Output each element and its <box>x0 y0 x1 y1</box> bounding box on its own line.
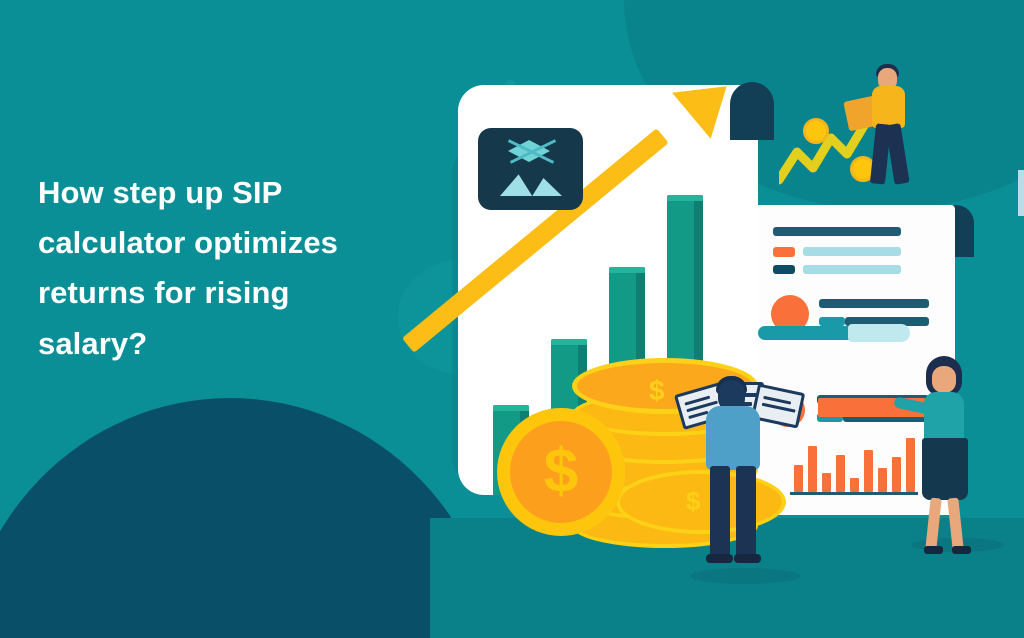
headline-line-1: How step up SIP <box>38 168 418 218</box>
man-carrying-box <box>862 64 932 189</box>
mini-chart-bar <box>794 465 803 492</box>
mini-chart-bar <box>822 473 831 492</box>
document-line <box>773 227 901 236</box>
big-dollar-coin: $ <box>497 408 625 536</box>
document-line <box>819 317 845 326</box>
mini-chart-bar <box>878 468 887 492</box>
page-title: How step up SIP calculator optimizes ret… <box>38 168 418 369</box>
mini-chart-bar <box>836 455 845 492</box>
mini-chart-bar <box>850 478 859 492</box>
document-bullet-navy <box>773 265 795 274</box>
figure-shadow <box>690 568 800 584</box>
man-torso <box>872 86 905 128</box>
chart-bar-top <box>609 267 645 273</box>
man-shoe <box>734 554 761 563</box>
background-circle-bottom-left <box>0 398 500 638</box>
highlighter-pen-tip-icon <box>848 324 910 342</box>
document-line <box>803 247 901 256</box>
document-line <box>819 299 929 308</box>
chart-bar-top <box>551 339 587 345</box>
woman-leg <box>947 498 963 551</box>
badge-mountain-shape <box>500 166 562 196</box>
document-bullet-orange <box>773 247 795 257</box>
man-leg <box>710 466 730 558</box>
coin-dollar-symbol: $ <box>649 375 665 407</box>
woman-leg <box>925 498 941 551</box>
banner-canvas: How step up SIP calculator optimizes ret… <box>0 0 1024 638</box>
headline-line-2: calculator optimizes <box>38 218 418 268</box>
coin-dollar-symbol: $ <box>506 417 616 527</box>
chart-bar-top <box>493 405 529 411</box>
man-with-laptop-screens <box>692 374 792 570</box>
woman-top <box>924 392 964 442</box>
document-line <box>803 265 901 274</box>
woman-skirt <box>922 438 968 500</box>
man-shoe <box>706 554 733 563</box>
woman-shoe <box>924 546 943 554</box>
man-leg <box>736 466 756 558</box>
headline-line-3: returns for rising <box>38 268 418 318</box>
man-torso <box>706 406 760 470</box>
mini-chart-bar <box>808 446 817 492</box>
mini-chart-bar <box>864 450 873 492</box>
mini-chart-bar <box>892 457 901 492</box>
man-leg <box>885 123 909 185</box>
mini-chart-axis <box>790 492 918 495</box>
coin-small-icon <box>803 118 829 144</box>
headline-line-4: salary? <box>38 319 418 369</box>
mountain-landscape-icon <box>478 128 583 210</box>
woman-presenting-chart <box>912 356 982 556</box>
woman-face <box>932 366 956 393</box>
card-folded-tab <box>1018 170 1024 216</box>
woman-shoe <box>952 546 971 554</box>
mini-report-bar-chart <box>790 420 918 498</box>
chart-bar-top <box>667 195 703 201</box>
